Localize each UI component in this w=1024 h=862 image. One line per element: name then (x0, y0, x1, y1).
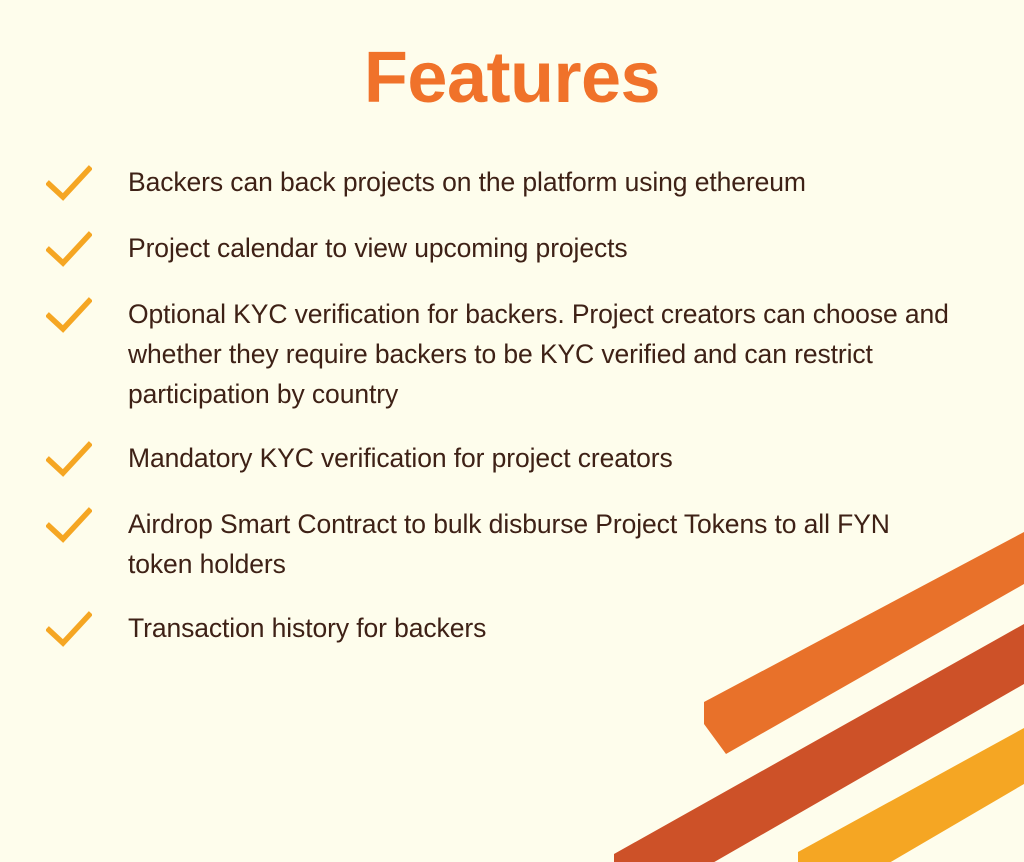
features-slide: Features Backers can back projects on th… (0, 0, 1024, 862)
check-icon (46, 440, 92, 480)
list-item-label: Transaction history for backers (128, 608, 958, 648)
check-icon (46, 296, 92, 336)
list-item-label: Backers can back projects on the platfor… (128, 162, 958, 202)
list-item: Airdrop Smart Contract to bulk disburse … (46, 504, 976, 584)
list-item-label: Optional KYC verification for backers. P… (128, 294, 958, 414)
list-item: Mandatory KYC verification for project c… (46, 438, 976, 480)
list-item: Transaction history for backers (46, 608, 976, 650)
list-item-label: Airdrop Smart Contract to bulk disburse … (128, 504, 958, 584)
stripe-bottom (798, 728, 1024, 862)
features-list: Backers can back projects on the platfor… (46, 162, 976, 674)
list-item: Optional KYC verification for backers. P… (46, 294, 976, 414)
list-item-label: Project calendar to view upcoming projec… (128, 228, 958, 268)
list-item: Project calendar to view upcoming projec… (46, 228, 976, 270)
check-icon (46, 610, 92, 650)
check-icon (46, 164, 92, 204)
check-icon (46, 506, 92, 546)
list-item-label: Mandatory KYC verification for project c… (128, 438, 958, 478)
list-item: Backers can back projects on the platfor… (46, 162, 976, 204)
page-title: Features (0, 42, 1024, 114)
check-icon (46, 230, 92, 270)
